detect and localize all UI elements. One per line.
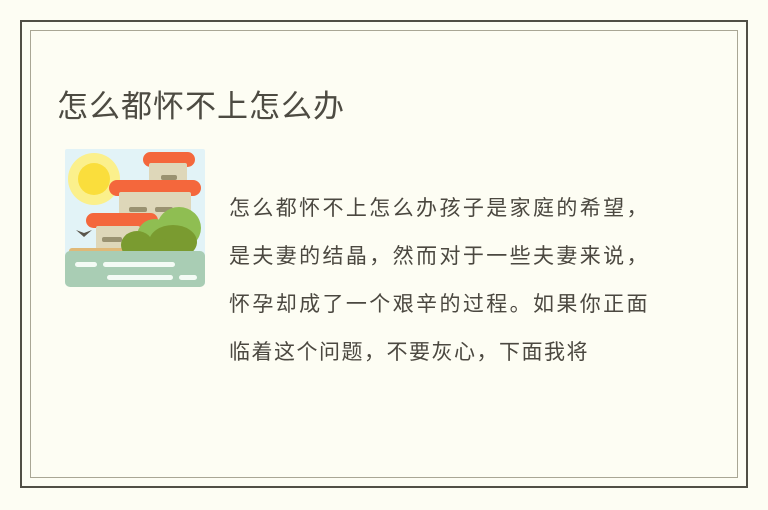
building-middle-window-left	[129, 207, 147, 212]
building-front-window	[102, 237, 122, 242]
article-body-text: 怎么都怀不上怎么办孩子是家庭的希望，是夫妻的结晶，然而对于一些夫妻来说，怀孕却成…	[229, 184, 649, 376]
article-illustration	[57, 145, 210, 295]
page-title: 怎么都怀不上怎么办	[57, 87, 345, 127]
page-root: 怎么都怀不上怎么办	[0, 0, 768, 510]
wave-line-3	[107, 275, 173, 280]
article-content: 怎么都怀不上怎么办	[0, 0, 768, 510]
bird-icon	[75, 229, 93, 241]
water-area	[65, 251, 205, 287]
wave-line-4	[179, 275, 197, 280]
wave-line-2	[103, 262, 175, 267]
sun-icon	[78, 163, 110, 195]
wave-line-1	[75, 262, 97, 267]
